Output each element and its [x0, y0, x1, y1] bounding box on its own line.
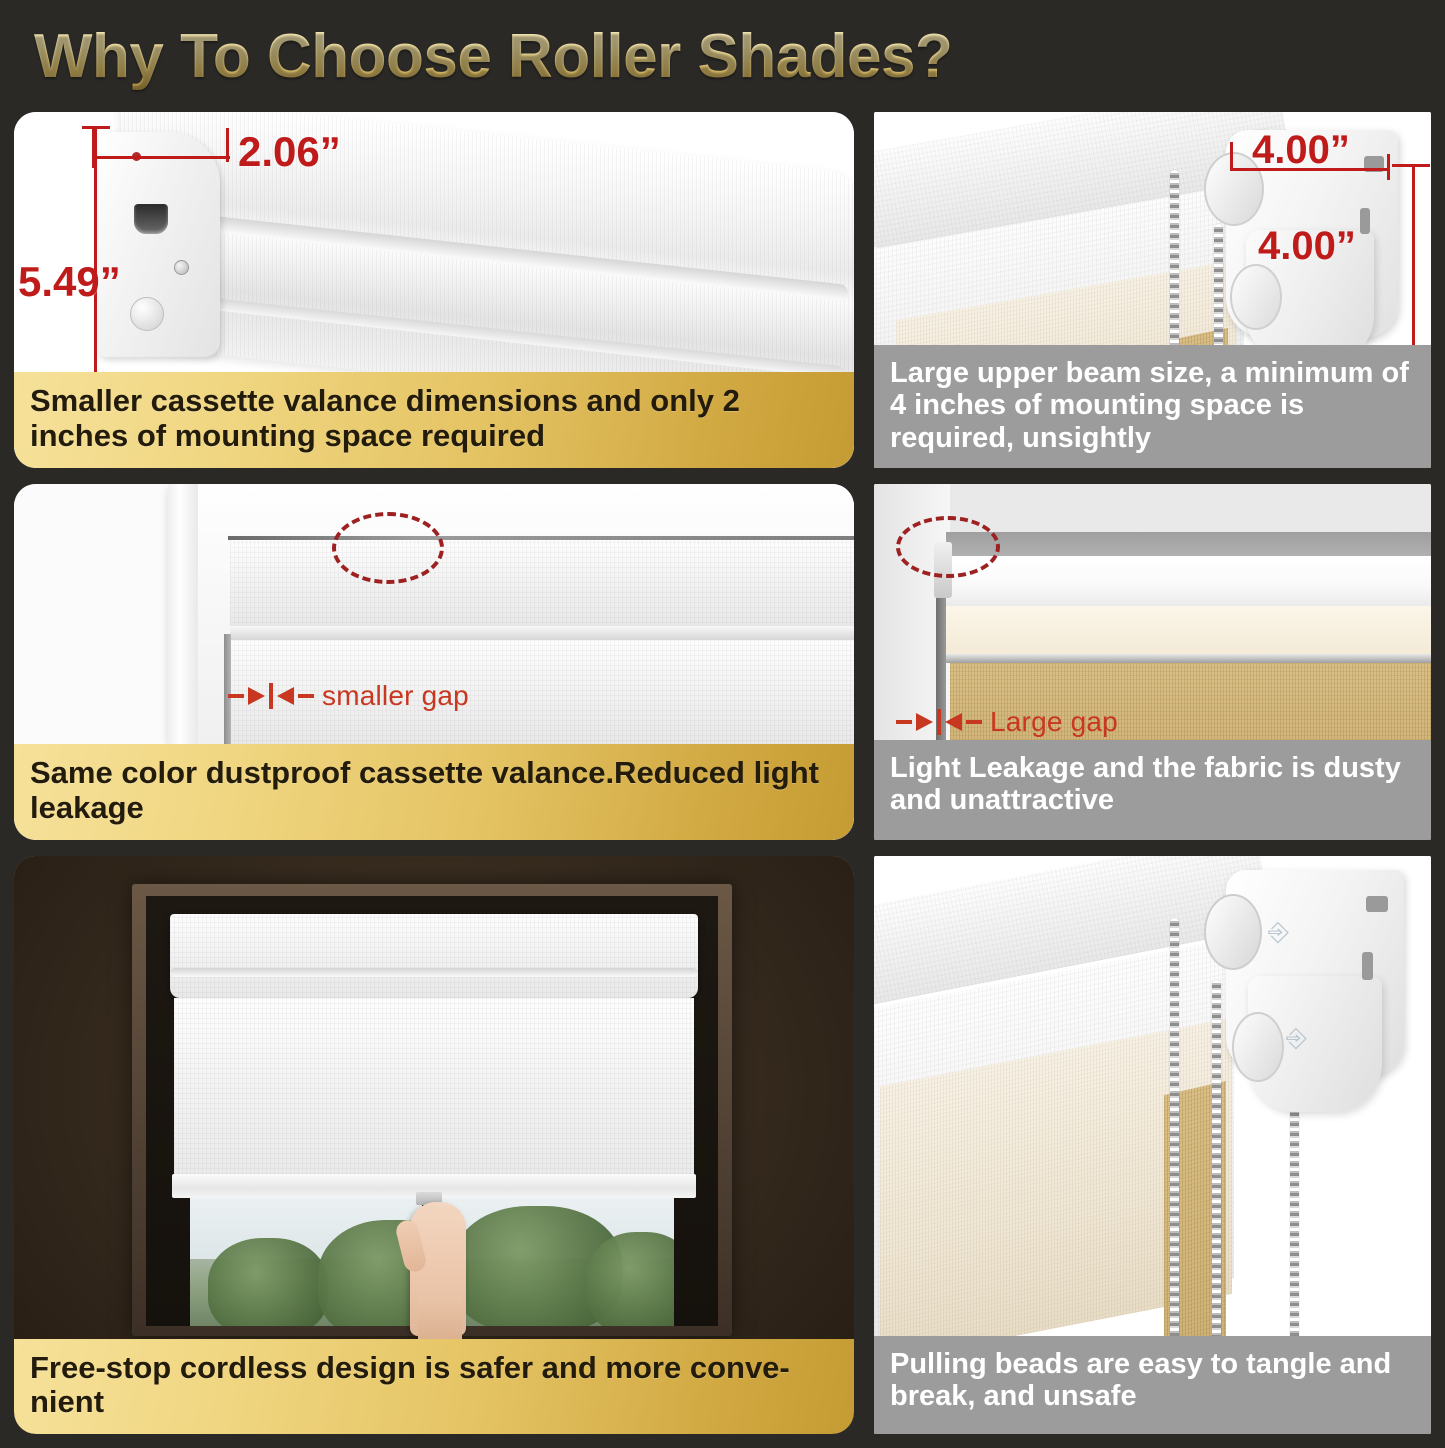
cassette-valance	[170, 914, 698, 998]
dim-tick-left-2	[1230, 142, 1233, 170]
panel-2-caption: Large upper beam size, a minimum of 4 in…	[874, 345, 1431, 468]
panel-4-caption: Light Leakage and the fabric is dusty an…	[874, 740, 1431, 840]
gap-highlight-ellipse-2	[896, 516, 1000, 578]
bracket-notch-2	[1360, 208, 1370, 234]
gap-measure-bar	[269, 683, 273, 709]
bracket-emboss-icon-1: ⎆	[1268, 916, 1289, 948]
comparison-row-3: Free-stop cordless design is safer and m…	[14, 856, 1431, 1434]
dimension-height-label-2: 4.00”	[1258, 224, 1356, 269]
bracket-notch-3	[1366, 896, 1388, 912]
header: Why To Choose Roller Shades?	[0, 0, 1445, 112]
roll-end-disc-lower	[1230, 264, 1282, 330]
roll-end-disc-lower-2	[1232, 1012, 1284, 1082]
panel-dustproof-valance: smaller gap Same color dustproof cassett…	[14, 484, 854, 840]
comparison-row-2: smaller gap Same color dustproof cassett…	[14, 484, 1431, 840]
window-jamb	[168, 484, 198, 746]
beam-bottom-rail	[946, 654, 1431, 663]
gap-measure-bar-2	[937, 709, 941, 735]
end-cap-slot	[134, 204, 168, 234]
tree-4	[586, 1232, 674, 1326]
panel-light-leakage: Large gap Light Leakage and the fabric i…	[874, 484, 1431, 840]
beam-cream-band	[946, 606, 1431, 658]
end-cap-screw	[174, 260, 189, 275]
panel-1-caption: Smaller cassette valance dimensions and …	[14, 372, 854, 468]
panel-6-caption: Pulling beads are easy to tangle and bre…	[874, 1336, 1431, 1434]
panel-cordless-design: Free-stop cordless design is safer and m…	[14, 856, 854, 1434]
dim-tick-top-2	[1392, 164, 1430, 167]
large-gap-label: Large gap	[990, 706, 1118, 738]
gap-highlight-ellipse	[332, 512, 444, 584]
valance-face	[230, 540, 854, 628]
panel-pulling-beads: ⎆ ⎆ Pulling beads are easy to tangle and…	[874, 856, 1431, 1434]
arrow-right-icon-2	[916, 713, 933, 731]
arrow-right-icon	[248, 687, 265, 705]
bead-chain-loop-left[interactable]	[1170, 918, 1179, 1348]
bead-chain-loop-mid[interactable]	[1212, 980, 1221, 1350]
roller-shade-fabric	[174, 998, 694, 1194]
dim-tick-top	[82, 126, 110, 129]
arrow-tail-left-2	[896, 720, 912, 724]
smaller-gap-label: smaller gap	[322, 680, 469, 712]
panel-smaller-cassette: 2.06” 5.49” Smaller cassette valance dim…	[14, 112, 854, 468]
page-title: Why To Choose Roller Shades?	[34, 21, 952, 92]
tree-1	[208, 1238, 328, 1326]
arrow-tail-right	[298, 694, 314, 698]
panel-5-caption: Free-stop cordless design is safer and m…	[14, 1339, 854, 1434]
arrow-left-icon	[277, 687, 294, 705]
bracket-notch-4	[1362, 952, 1373, 980]
panel-3-caption: Same color dustproof cassette valance.Re…	[14, 744, 854, 840]
end-cap-knob	[130, 297, 164, 331]
dimension-height-label: 5.49”	[18, 258, 121, 306]
comparison-grid: 2.06” 5.49” Smaller cassette valance dim…	[0, 112, 1445, 1448]
arrow-tail-right-2	[966, 720, 982, 724]
valance-groove-line	[170, 968, 698, 977]
smaller-gap-callout: smaller gap	[228, 680, 469, 712]
roll-end-disc-2	[1204, 894, 1262, 970]
dimension-width-label-2: 4.00”	[1252, 128, 1350, 173]
arrow-left-icon-2	[945, 713, 962, 731]
dim-tick-right-2	[1387, 154, 1390, 180]
panel-large-upper-beam: 4.00” 4.00” Large upper beam size, a min…	[874, 112, 1431, 468]
large-gap-callout: Large gap	[896, 706, 1118, 738]
bracket-emboss-icon-2: ⎆	[1286, 1022, 1307, 1054]
dim-line-height-2	[1412, 164, 1415, 354]
dim-line-width	[92, 156, 230, 159]
arrow-tail-left	[228, 694, 244, 698]
valance-mid-rail	[230, 626, 854, 640]
comparison-row-1: 2.06” 5.49” Smaller cassette valance dim…	[14, 112, 1431, 468]
dimension-width-label: 2.06”	[238, 128, 341, 176]
